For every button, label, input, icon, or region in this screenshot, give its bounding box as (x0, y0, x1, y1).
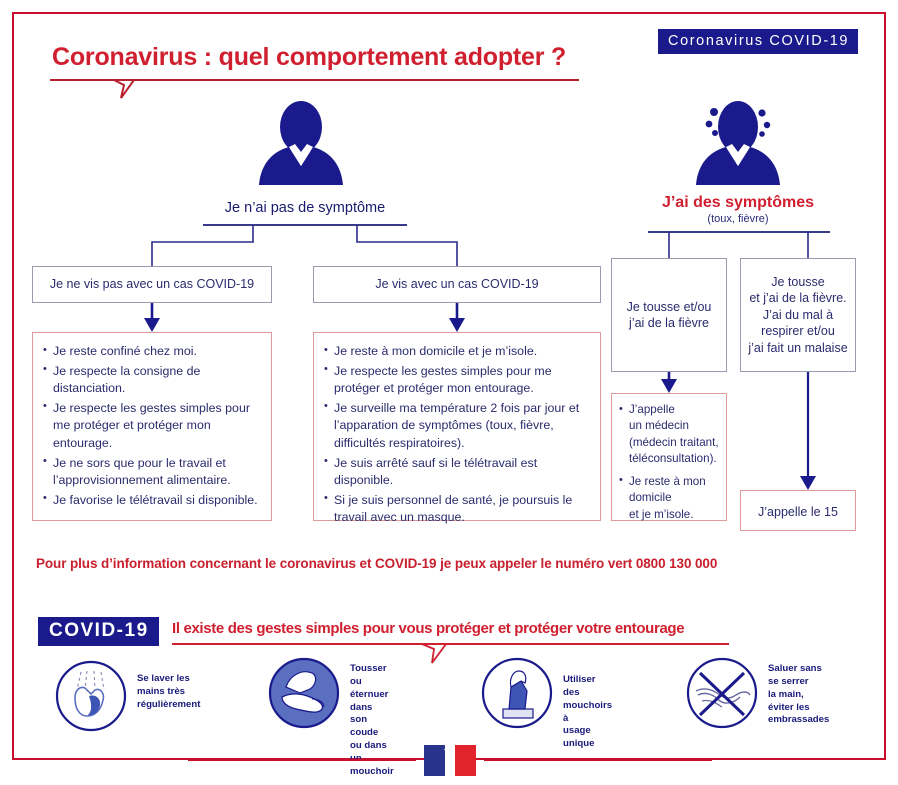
list-item: Je reste à mon domicile et je m’isole. (324, 343, 590, 361)
cough-elbow-icon (268, 657, 340, 729)
covid-banner-arrow-tick (420, 643, 456, 665)
gesture-label: Saluer sans se serrer la main, éviter le… (768, 663, 829, 727)
wash-hands-icon (55, 660, 127, 732)
list-item: Je respecte la consigne de distanciation… (43, 363, 261, 398)
list-item: Je favorise le télétravail si disponible… (43, 492, 261, 510)
gesture-cough-elbow: Tousser ou éternuer dans son coude ou da… (268, 657, 340, 734)
list-item: Je reste confiné chez moi. (43, 343, 261, 361)
list-item: Si je suis personnel de santé, je poursu… (324, 492, 590, 527)
french-republic-flag-logo (424, 745, 476, 776)
footer-rule-left (188, 759, 416, 761)
actions-box-no-cohabitation: Je reste confiné chez moi. Je respecte l… (32, 332, 272, 521)
list-item: Je surveille ma température 2 fois par j… (324, 400, 590, 453)
covid-banner-badge: COVID-19 (38, 617, 159, 646)
list-item: Je ne sors que pour le travail et l’appr… (43, 455, 261, 490)
gesture-label: Utiliser des mouchoirs à usage unique (563, 674, 612, 751)
actions-list: J’appelle un médecin (médecin traitant, … (619, 402, 720, 523)
gesture-label: Tousser ou éternuer dans son coude ou da… (350, 663, 394, 779)
gesture-tissue: Utiliser des mouchoirs à usage unique (481, 657, 553, 734)
actions-list: Je reste confiné chez moi. Je respecte l… (43, 343, 261, 509)
list-item: Je reste à mon domicile et je m’isole. (619, 474, 720, 523)
info-line: Pour plus d’information concernant le co… (36, 556, 866, 571)
tissue-icon (481, 657, 553, 729)
actions-box-cohabitation: Je reste à mon domicile et je m’isole. J… (313, 332, 601, 521)
list-item: J’appelle un médecin (médecin traitant, … (619, 402, 720, 468)
list-item: Je respecte les gestes simples pour me p… (43, 400, 261, 453)
list-item: Je suis arrêté sauf si le télétravail es… (324, 455, 590, 490)
symptom-box-severe: Je tousse et j’ai de la fièvre. J’ai du … (740, 258, 856, 372)
symptom-box-cough-fever: Je tousse et/ou j’ai de la fièvre (611, 258, 727, 372)
footer-rule-right (484, 759, 712, 761)
gesture-label: Se laver les mains très régulièrement (137, 673, 200, 712)
no-handshake-icon (686, 657, 758, 729)
actions-list: Je reste à mon domicile et je m’isole. J… (324, 343, 590, 527)
gesture-wash-hands: Se laver les mains très régulièrement (55, 660, 127, 737)
infographic-poster: Coronavirus : quel comportement adopter … (0, 0, 898, 785)
actions-box-cough-fever: J’appelle un médecin (médecin traitant, … (611, 393, 727, 521)
case-box-cohabitation: Je vis avec un cas COVID-19 (313, 266, 601, 303)
covid-banner-tagline: Il existe des gestes simples pour vous p… (172, 620, 684, 637)
result-box-call-15: J’appelle le 15 (740, 490, 856, 531)
case-box-no-cohabitation: Je ne vis pas avec un cas COVID-19 (32, 266, 272, 303)
list-item: Je respecte les gestes simples pour me p… (324, 363, 590, 398)
gesture-no-handshake: Saluer sans se serrer la main, éviter le… (686, 657, 758, 734)
